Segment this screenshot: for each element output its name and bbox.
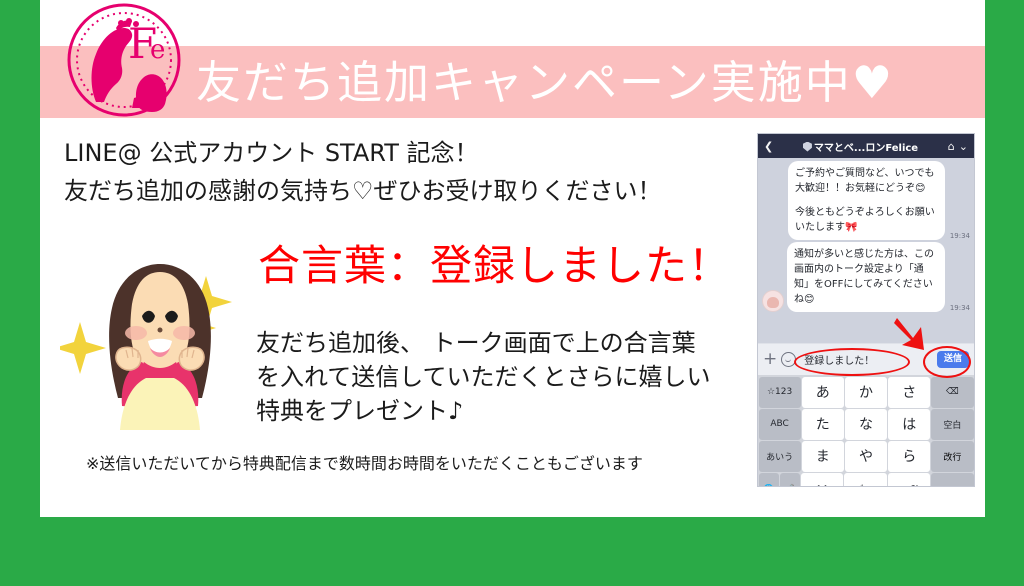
key-na[interactable]: な	[845, 409, 887, 440]
keyboard-row: あいう ま や ら 改行	[758, 440, 974, 472]
key-ka[interactable]: か	[845, 377, 887, 408]
message-row: 通知が多いと感じた方は、この画面内のトーク設定より「通知」をOFFにしてみてくだ…	[762, 242, 970, 312]
key-enter[interactable]: 改行	[931, 441, 973, 472]
message-paragraph: 通知が多いと感じた方は、この画面内のトーク設定より「通知」をOFFにしてみてくだ…	[794, 247, 938, 307]
instructions-line-2: を入れて送信していただくとさらに嬉しい	[256, 360, 711, 394]
lead-text: LINE@ 公式アカウント START 記念！ 友だち追加の感謝の気持ち♡ぜひお…	[64, 134, 662, 210]
message-paragraph: ご予約やご質問など、いつでも大歓迎！！お気軽にどうぞ😊	[795, 166, 938, 196]
key-ta[interactable]: た	[802, 409, 844, 440]
chat-messages: ご予約やご質問など、いつでも大歓迎！！お気軽にどうぞ😊 今後ともどうぞよろしくお…	[758, 158, 974, 343]
smiley-icon[interactable]	[781, 352, 796, 367]
chat-header: ❮ ママとベ...ロンFelice ⌂ ⌄	[758, 134, 974, 158]
send-button[interactable]: 送信	[937, 351, 969, 368]
happy-woman-illustration	[60, 238, 260, 430]
keyboard-left-group: 🌐 🎤	[758, 472, 800, 487]
poster: 友だち追加キャンペーン実施中♥ F e LINE@ 公式アカウント START …	[0, 0, 1024, 586]
keyboard-row: ABC た な は 空白	[758, 408, 974, 440]
lead-line-1: LINE@ 公式アカウント START 記念！	[64, 134, 662, 172]
key-space[interactable]: 空白	[931, 409, 973, 440]
message-bubble: 通知が多いと感じた方は、この画面内のトーク設定より「通知」をOFFにしてみてくだ…	[787, 242, 945, 312]
brand-logo: F e	[66, 2, 182, 118]
message-time: 19:34	[950, 232, 970, 240]
key-abc[interactable]: ABC	[759, 409, 801, 440]
key-ha[interactable]: は	[888, 409, 930, 440]
message-input-bar: + 登録しました！ 送信	[758, 343, 974, 375]
keyword-headline: 合言葉：登録しました！	[258, 240, 731, 292]
shield-icon	[803, 142, 812, 152]
key-sa[interactable]: さ	[888, 377, 930, 408]
backspace-icon[interactable]: ⌫	[931, 377, 973, 408]
message-paragraph: 今後ともどうぞよろしくお願いいたします🎀	[795, 205, 938, 235]
message-bubble: ご予約やご質問など、いつでも大歓迎！！お気軽にどうぞ😊 今後ともどうぞよろしくお…	[788, 161, 945, 240]
key-punctuation[interactable]: 、。?!	[888, 473, 930, 488]
home-icon[interactable]: ⌂	[948, 140, 955, 153]
keyboard-row: ☆123 あ か さ ⌫	[758, 376, 974, 408]
keyboard-row: 🌐 🎤 ^^ わ_ 、。?!	[758, 472, 974, 487]
microphone-icon[interactable]: 🎤	[780, 473, 800, 488]
line-chat-screenshot: ❮ ママとベ...ロンFelice ⌂ ⌄ ご予約やご質問など、いつでも大歓迎！…	[757, 133, 975, 487]
key-ma[interactable]: ま	[802, 441, 844, 472]
globe-icon[interactable]: 🌐	[759, 473, 779, 488]
chevron-down-icon[interactable]: ⌄	[959, 140, 968, 153]
key-a[interactable]: あ	[802, 377, 844, 408]
message-row: ご予約やご質問など、いつでも大歓迎！！お気軽にどうぞ😊 今後ともどうぞよろしくお…	[762, 161, 970, 240]
message-time: 19:34	[950, 304, 970, 312]
annotation-arrow-icon	[891, 314, 935, 358]
key-enter-filler[interactable]	[931, 473, 973, 488]
japanese-keyboard: ☆123 あ か さ ⌫ ABC た な は 空白 あいう ま や ら 改行	[758, 375, 974, 487]
key-symbols[interactable]: ☆123	[759, 377, 801, 408]
instructions-line-1: 友だち追加後、 トーク画面で上の合言葉	[256, 326, 711, 360]
key-ya[interactable]: や	[845, 441, 887, 472]
key-ra[interactable]: ら	[888, 441, 930, 472]
lead-line-2: 友だち追加の感謝の気持ち♡ぜひお受け取りください！	[64, 172, 662, 210]
disclaimer-note: ※送信いただいてから特典配信まで数時間お時間をいただくこともございます	[86, 452, 643, 476]
instructions-line-3: 特典をプレゼント♪	[256, 394, 711, 428]
key-wa[interactable]: わ_	[844, 473, 886, 488]
chat-title: ママとベ...ロンFelice	[777, 139, 944, 154]
chevron-left-icon[interactable]: ❮	[764, 140, 773, 153]
avatar	[762, 290, 784, 312]
key-emoticon[interactable]: ^^	[801, 473, 843, 488]
banner-title: 友だち追加キャンペーン実施中♥	[196, 50, 894, 116]
svg-text:e: e	[150, 35, 165, 65]
plus-icon[interactable]: +	[763, 351, 777, 368]
key-kana-mode[interactable]: あいう	[759, 441, 801, 472]
instructions-text: 友だち追加後、 トーク画面で上の合言葉 を入れて送信していただくとさらに嬉しい …	[256, 326, 711, 428]
